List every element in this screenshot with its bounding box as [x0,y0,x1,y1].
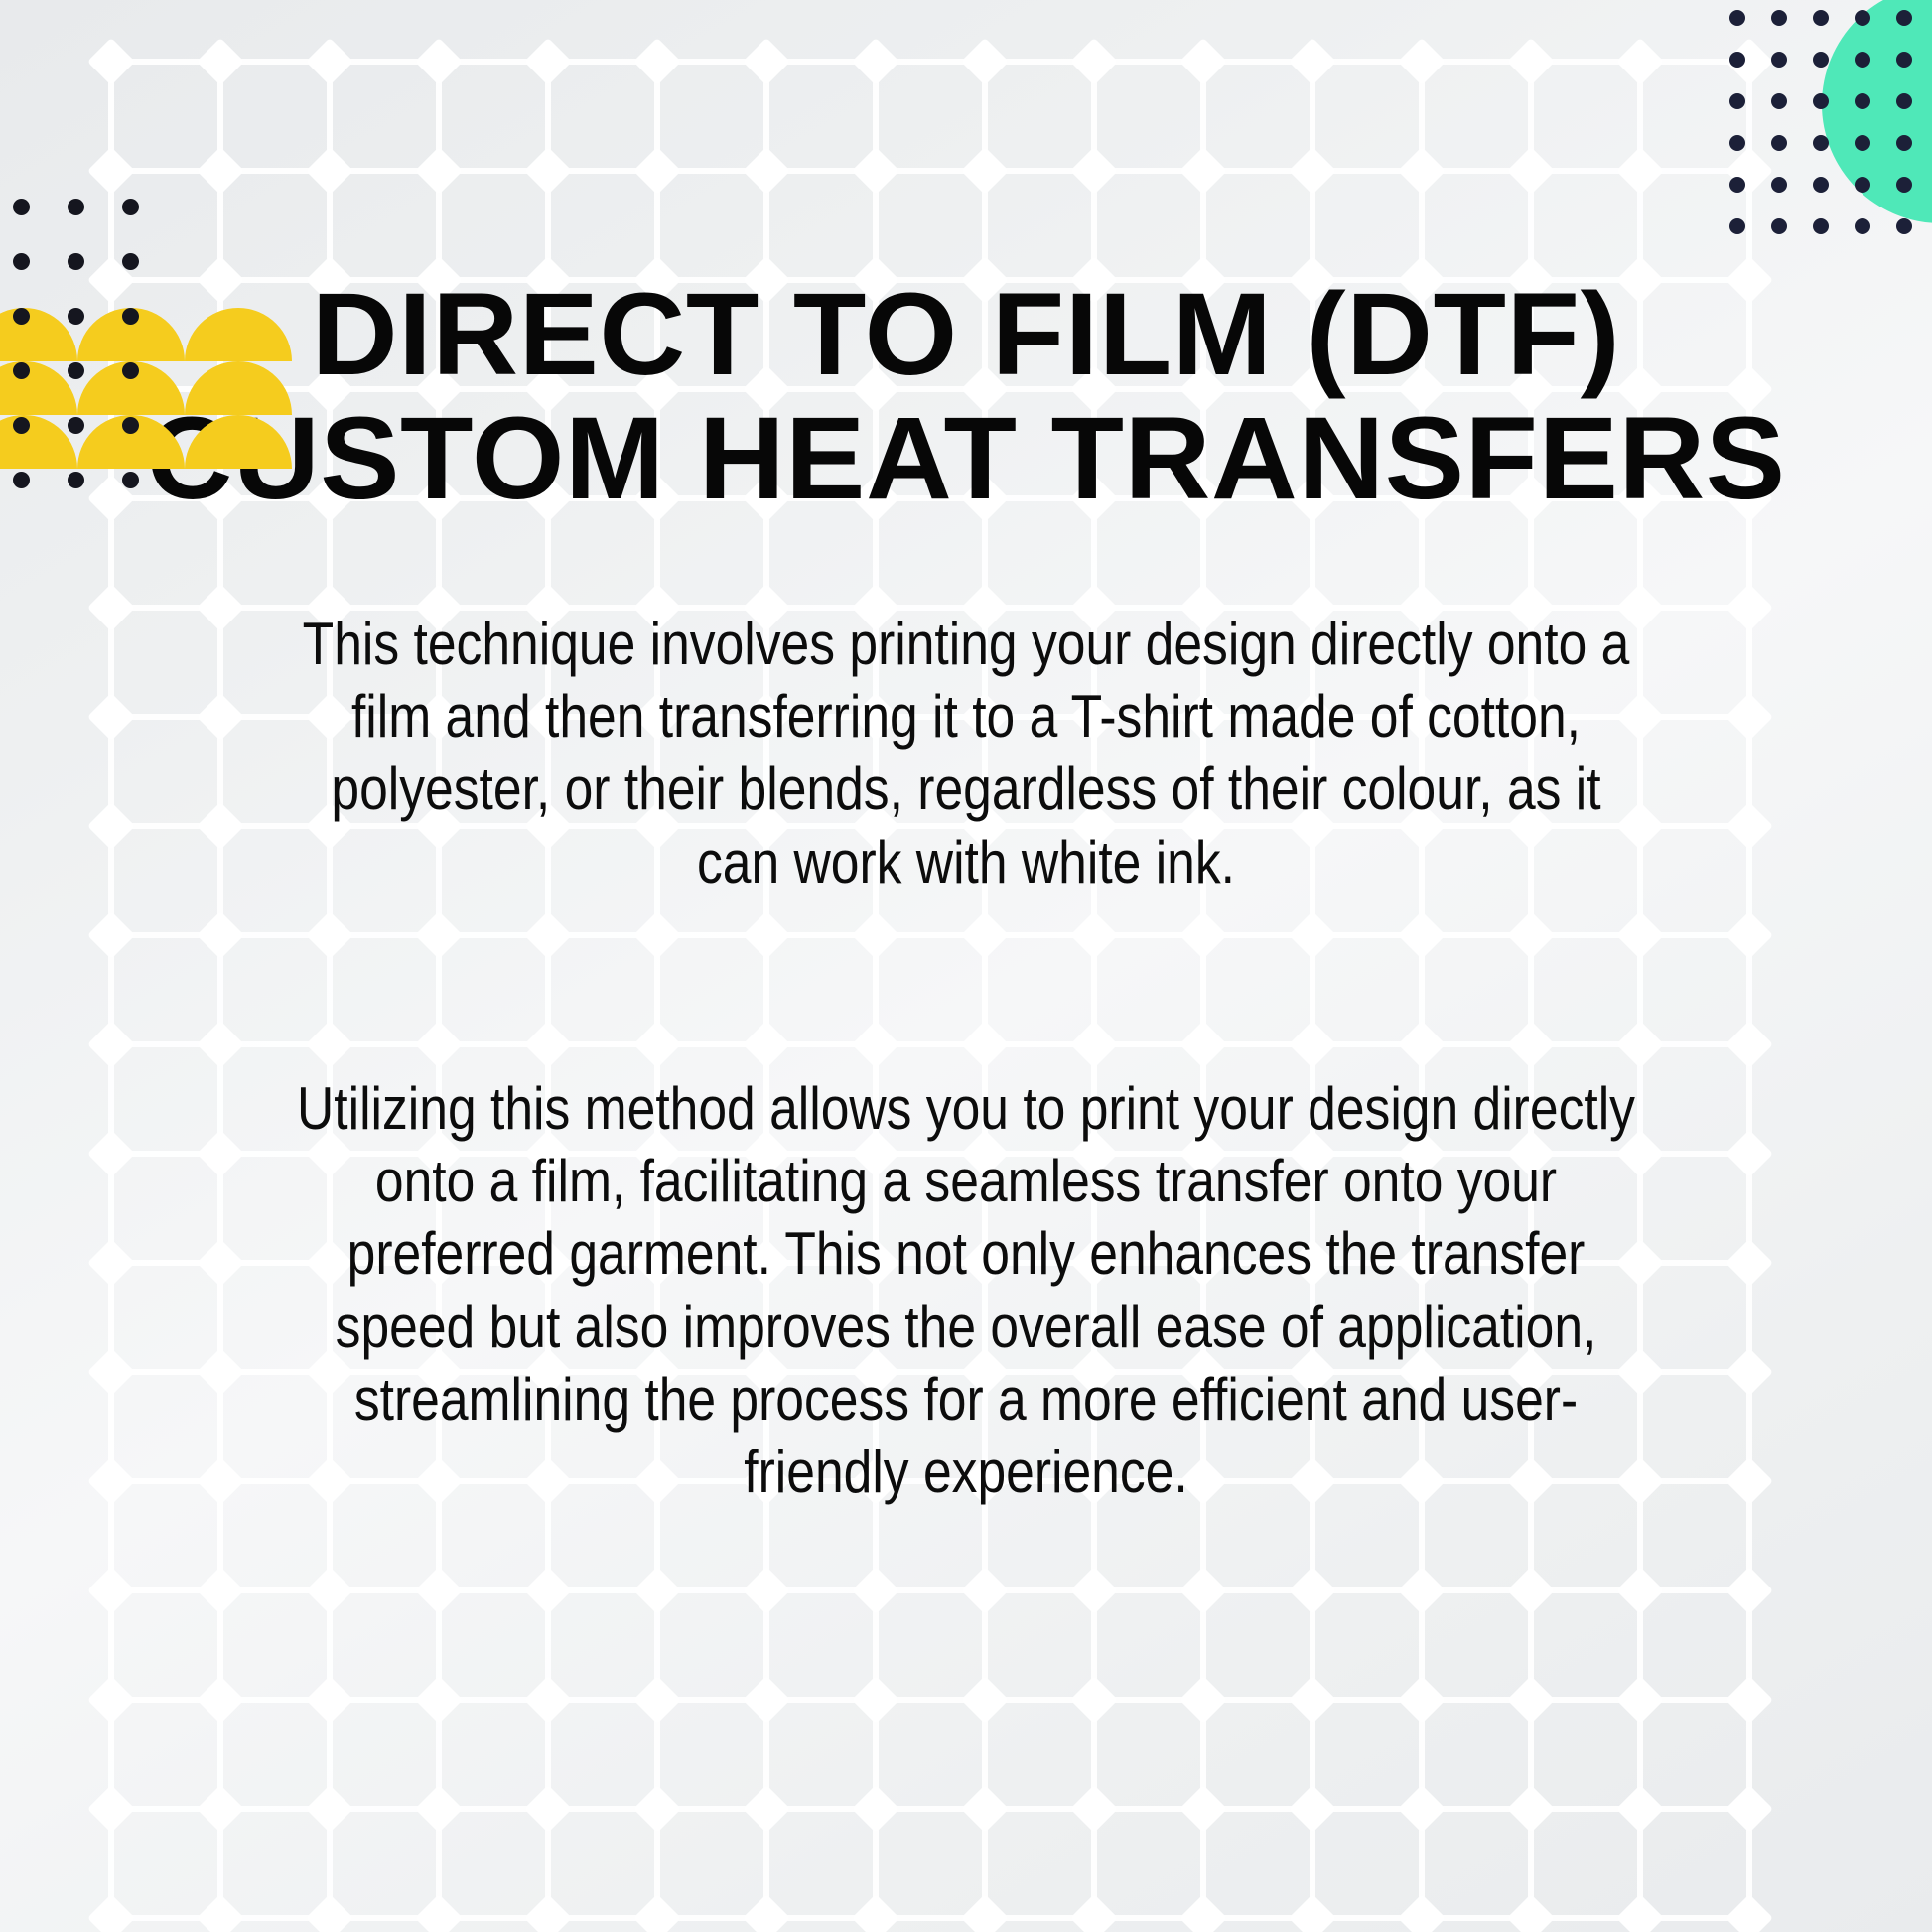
paragraph-2: Utilizing this method allows you to prin… [244,1072,1687,1508]
dot-icon [122,417,139,434]
paragraph-1-line-4: can work with white ink. [244,826,1687,898]
dot-icon [122,362,139,379]
dot-icon [68,253,84,270]
dot-icon [13,362,30,379]
dot-icon [13,253,30,270]
paragraph-2-line-6: friendly experience. [244,1436,1687,1508]
dot-icon [122,253,139,270]
title-line-1: DIRECT TO FILM (DTF) [143,273,1790,397]
dot-icon [13,472,30,488]
dot-icon [122,472,139,488]
dot-icon [68,362,84,379]
page-title: DIRECT TO FILM (DTF) CUSTOM HEAT TRANSFE… [143,273,1790,521]
paragraph-2-line-3: preferred garment. This not only enhance… [244,1217,1687,1290]
paragraph-2-line-4: speed but also improves the overall ease… [244,1291,1687,1363]
paragraph-1: This technique involves printing your de… [244,608,1687,898]
paragraph-2-line-5: streamlining the process for a more effi… [244,1363,1687,1436]
paragraph-2-line-2: onto a film, facilitating a seamless tra… [244,1145,1687,1217]
paragraph-2-line-1: Utilizing this method allows you to prin… [244,1072,1687,1145]
dot-icon [68,199,84,215]
dot-icon [122,199,139,215]
dot-icon [13,308,30,325]
dot-icon [68,417,84,434]
poster-content: DIRECT TO FILM (DTF) CUSTOM HEAT TRANSFE… [0,0,1932,1932]
dot-icon [68,308,84,325]
dot-icon [122,308,139,325]
paragraph-1-line-2: film and then transferring it to a T-shi… [244,680,1687,753]
paragraph-1-line-3: polyester, or their blends, regardless o… [244,753,1687,825]
paragraph-1-line-1: This technique involves printing your de… [244,608,1687,680]
poster-canvas: DIRECT TO FILM (DTF) CUSTOM HEAT TRANSFE… [0,0,1932,1932]
title-line-2: CUSTOM HEAT TRANSFERS [143,397,1790,521]
dot-icon [68,472,84,488]
dot-icon [13,199,30,215]
dot-icon [13,417,30,434]
